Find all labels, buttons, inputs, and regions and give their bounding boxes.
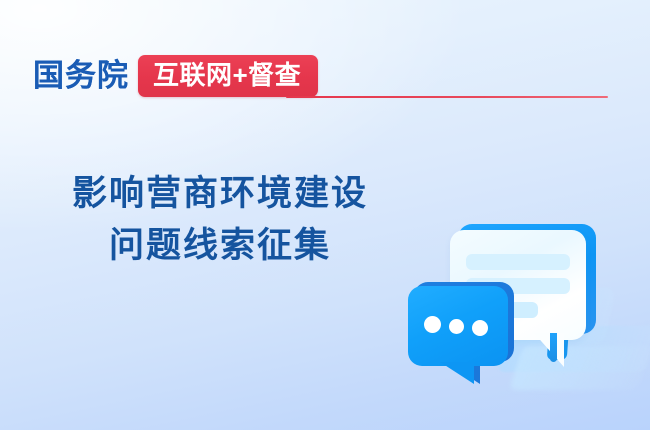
- header-divider-rule: [286, 96, 608, 98]
- internet-plus-supervision-badge[interactable]: 互联网+督查: [138, 55, 318, 97]
- page-title: 影响营商环境建设 问题线索征集: [0, 168, 440, 272]
- state-council-wordmark: 国务院: [33, 60, 129, 93]
- page-title-line-2: 问题线索征集: [0, 220, 440, 272]
- promo-banner: 国务院 互联网+督查 影响营商环境建设 问题线索征集: [0, 0, 650, 430]
- typing-dot-3: [472, 320, 488, 336]
- page-title-line-1: 影响营商环境建设: [0, 168, 440, 220]
- government-logo-lockup: 国务院 互联网+督查: [33, 52, 318, 100]
- typing-dot-1: [424, 316, 441, 333]
- message-text-line-1: [466, 254, 570, 270]
- small-bubble-tail: [432, 362, 474, 384]
- chat-bubbles-illustration: [398, 196, 650, 430]
- badge-label: 互联网+督查: [153, 62, 301, 90]
- typing-dot-2: [449, 319, 464, 334]
- large-bubble-tail-edge: [550, 333, 557, 362]
